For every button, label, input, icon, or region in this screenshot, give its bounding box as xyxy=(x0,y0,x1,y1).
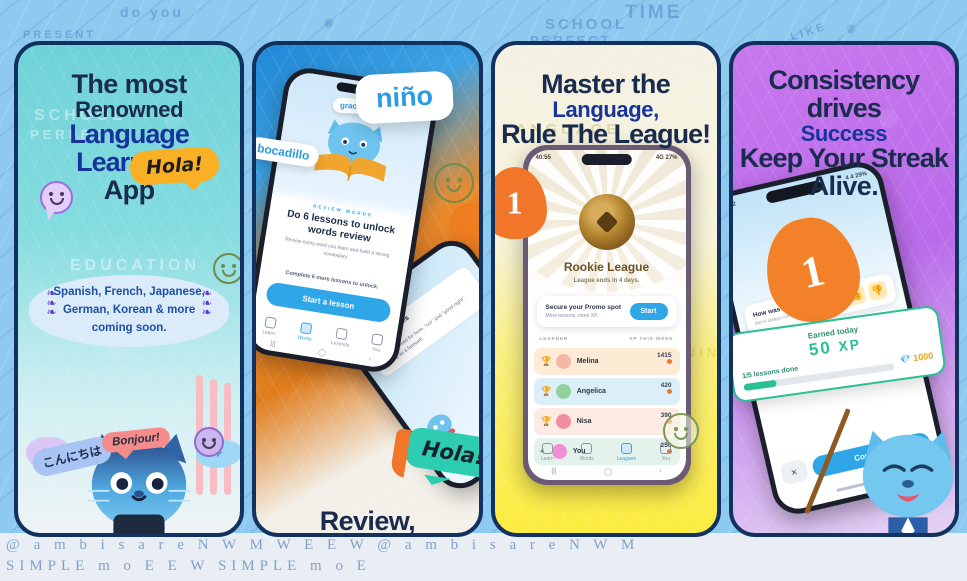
avatar xyxy=(556,384,571,399)
close-button[interactable]: ✕ xyxy=(779,458,809,485)
promo-subtitle: More lessons, more XP. xyxy=(546,313,630,319)
smiley-icon xyxy=(40,181,73,214)
headline-line-2: Language, xyxy=(495,99,717,122)
nav-item-learn[interactable]: Learn xyxy=(528,443,568,462)
headline-line-3: Rule The League! xyxy=(495,121,717,149)
nav-item-words[interactable]: Words xyxy=(567,443,607,462)
headline-line-2: Renowned xyxy=(18,99,240,122)
thumbs-down-icon[interactable]: 👎 xyxy=(867,280,889,302)
avatar xyxy=(556,354,571,369)
gem-icon: 💎 xyxy=(899,353,912,364)
promo-title: Secure your Promo spot xyxy=(546,304,630,311)
panel-row: SCHOOL PERFECT EDUCATION FUTURE The most… xyxy=(0,0,967,581)
headline-line-1: Master the xyxy=(495,71,717,99)
status-time: 00:52 xyxy=(729,201,737,210)
promo-card[interactable]: Secure your Promo spot More lessons, mor… xyxy=(537,296,677,327)
headline-line-4: Alive. xyxy=(733,173,955,201)
nino-word-tag: niño xyxy=(355,70,454,124)
headline-line-2: Success xyxy=(733,123,955,146)
renowned-app-panel: SCHOOL PERFECT EDUCATION FUTURE The most… xyxy=(14,41,244,537)
headline-line-3: Keep Your Streak xyxy=(733,145,955,173)
league-medal-icon xyxy=(579,194,635,250)
avatar xyxy=(556,414,571,429)
xp-dot-icon xyxy=(667,359,672,364)
supported-languages-text: Spanish, French, Japanese, German, Korea… xyxy=(53,284,205,337)
trophy-icon: 🏆 xyxy=(541,416,552,427)
table-row[interactable]: 🏆 Nisa 390 xyxy=(534,408,680,435)
nav-label: You xyxy=(372,346,381,353)
learner-xp: 420 xyxy=(661,382,672,389)
league-countdown: League ends in 4 days. xyxy=(528,278,686,284)
xp-unit: XP xyxy=(837,336,862,355)
league-name: Rookie League xyxy=(528,260,686,274)
headline-line-3-text: Keep Your Streak xyxy=(740,143,948,173)
status-indicators: 4G 27% xyxy=(656,155,678,161)
page-title: Review, Strengthen, and Retain Knowledge xyxy=(256,508,478,537)
table-header-xp: XP THIS WEEK xyxy=(629,336,673,341)
league-panel: LANGUAGE LEARNING Master the Language, R… xyxy=(491,41,721,537)
hola-speech-bubble: Hola! xyxy=(129,146,220,186)
trophy-icon: 🏆 xyxy=(541,356,552,367)
trophy-icon: 🏆 xyxy=(541,386,552,397)
streak-count: 1 xyxy=(507,185,523,222)
headline-line-1: The most xyxy=(18,71,240,99)
android-system-bar: |||◯‹ xyxy=(528,468,686,476)
cat-mascot-teacher xyxy=(849,419,959,537)
smiley-icon xyxy=(663,413,699,449)
supported-languages-callout: ❧❧❧ Spanish, French, Japanese, German, K… xyxy=(29,275,229,347)
status-time: 40:55 xyxy=(536,155,551,161)
page-title: Master the Language, Rule The League! xyxy=(495,71,717,149)
learner-xp: 1415 xyxy=(657,352,671,359)
nav-label: You xyxy=(662,456,670,462)
headline-line-1: Consistency drives xyxy=(733,67,955,123)
streak-panel: Consistency drives Success Keep Your Str… xyxy=(729,41,959,537)
learner-name: Nisa xyxy=(577,418,592,425)
review-strengthen-panel: gracias REVIEW WORDS Do 6 lessons to unl… xyxy=(252,41,482,537)
xp-dot-icon xyxy=(667,389,672,394)
table-row[interactable]: 🏆 Melina 1415 xyxy=(534,348,680,375)
smiley-icon xyxy=(213,253,244,284)
bottom-nav[interactable]: Learn Words Leagues You xyxy=(528,443,686,462)
smiley-icon xyxy=(194,427,224,457)
nav-item-leagues[interactable]: Leagues xyxy=(607,443,647,462)
gem-count: 💎 1000 xyxy=(899,350,934,366)
learner-name: Angelica xyxy=(577,388,606,395)
gem-number: 1000 xyxy=(912,350,933,363)
streak-count: 1 xyxy=(796,244,829,299)
xp-number: 50 xyxy=(807,338,832,360)
page-title: Consistency drives Success Keep Your Str… xyxy=(733,67,955,201)
learner-name: Melina xyxy=(577,358,599,365)
nav-label: Leagues xyxy=(617,456,636,462)
app-screen-league: 40:55 4G 27% Rookie League League ends i… xyxy=(528,150,686,480)
smiley-icon xyxy=(434,163,474,203)
nav-label: Words xyxy=(580,456,594,462)
ghost-word: EDUCATION xyxy=(70,257,200,275)
table-header-learner: LEARNER xyxy=(540,336,569,341)
promo-start-button[interactable]: Start xyxy=(630,303,668,320)
table-row[interactable]: 🏆 Angelica 420 xyxy=(534,378,680,405)
nav-label: Learn xyxy=(541,456,554,462)
headline-line-1: Review, Strengthen, xyxy=(256,508,478,537)
